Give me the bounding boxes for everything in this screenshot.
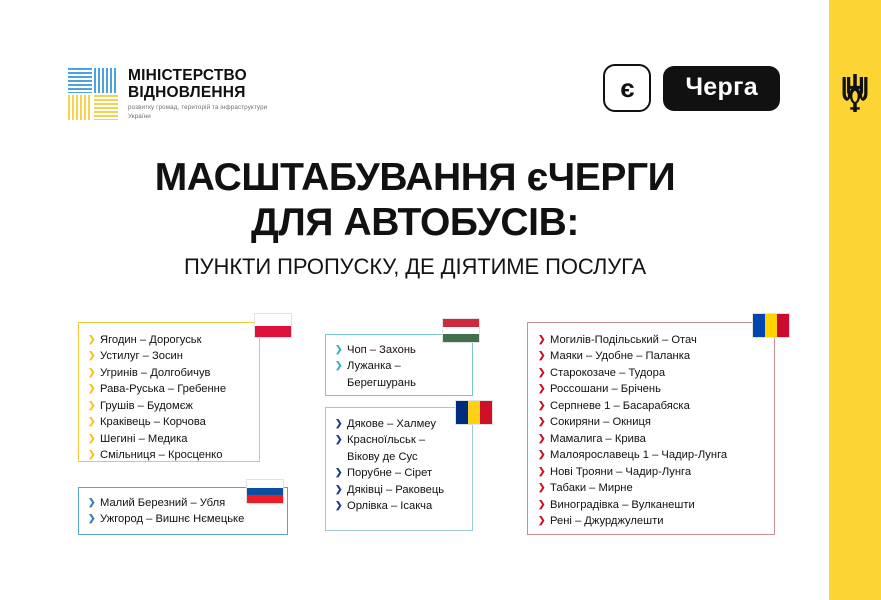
page-subtitle: ПУНКТИ ПРОПУСКУ, ДЕ ДІЯТИМЕ ПОСЛУГА: [0, 254, 830, 280]
ministry-wordmark: МІНІСТЕРСТВО ВІДНОВЛЕННЯ розвитку громад…: [128, 68, 278, 121]
checkpoint-list-romania: Дякове – ХалмеуКрасноїльськ – Вікову де …: [335, 416, 464, 515]
flag-hungary-icon: [442, 318, 480, 343]
page-title-line-1: МАСШТАБУВАННЯ єЧЕРГИ: [0, 155, 830, 200]
checkpoint-item: Порубне – Сірет: [335, 465, 464, 481]
checkpoint-box-romania: Дякове – ХалмеуКрасноїльськ – Вікову де …: [325, 407, 473, 531]
equeue-label: Черга: [663, 66, 780, 111]
ministry-name-line-2: ВІДНОВЛЕННЯ: [128, 85, 278, 102]
flag-band: [480, 401, 492, 424]
checkpoint-item: Виноградівка – Вулканешти: [538, 497, 766, 513]
checkpoint-item: Табаки – Мирне: [538, 480, 766, 496]
flag-romania-icon: [455, 400, 493, 425]
checkpoint-item: Нові Трояни – Чадир-Лунга: [538, 464, 766, 480]
checkpoint-item: Устилуг – Зосин: [88, 348, 251, 364]
flag-band: [443, 334, 479, 342]
flag-band: [255, 314, 291, 326]
checkpoint-item: Шегині – Медика: [88, 431, 251, 447]
checkpoint-item: Рені – Джурджулешти: [538, 513, 766, 529]
ministry-logo-mark-icon: [68, 68, 118, 120]
checkpoint-box-hungary: Чоп – ЗахоньЛужанка – Берегшурань: [325, 334, 473, 396]
ministry-name-line-1: МІНІСТЕРСТВО: [128, 68, 278, 85]
flag-slovakia-icon: [246, 479, 284, 504]
logo-quadrant-top-right: [94, 68, 118, 93]
page-title-line-2: ДЛЯ АВТОБУСІВ:: [0, 200, 830, 245]
equeue-mark-icon: є: [603, 64, 651, 112]
header: МІНІСТЕРСТВО ВІДНОВЛЕННЯ розвитку громад…: [68, 64, 780, 126]
checkpoint-item: Дяківці – Раковець: [335, 482, 464, 498]
ukraine-trident-icon: [840, 74, 870, 112]
checkpoint-item: Грушів – Будомєж: [88, 398, 251, 414]
checkpoint-item: Старокозаче – Тудора: [538, 365, 766, 381]
ministry-logo: МІНІСТЕРСТВО ВІДНОВЛЕННЯ розвитку громад…: [68, 68, 278, 121]
right-accent-band: [829, 0, 881, 600]
flag-band: [753, 314, 765, 337]
checkpoint-item: Маяки – Удобне – Паланка: [538, 348, 766, 364]
checkpoint-item: Чоп – Захонь: [335, 342, 464, 358]
checkpoint-item: Малоярославець 1 – Чадир-Лунга: [538, 447, 766, 463]
checkpoint-item: Серпневе 1 – Басарабяска: [538, 398, 766, 414]
title-area: МАСШТАБУВАННЯ єЧЕРГИ ДЛЯ АВТОБУСІВ: ПУНК…: [0, 155, 830, 280]
checkpoint-item: Могилів-Подільський – Отач: [538, 332, 766, 348]
logo-quadrant-bottom-right: [94, 95, 118, 120]
ministry-subtitle: розвитку громад, територій та інфраструк…: [128, 104, 278, 121]
checkpoint-item: Россошани – Брічень: [538, 381, 766, 397]
logo-quadrant-top-left: [68, 68, 92, 93]
checkpoint-list-poland: Ягодин – ДорогуськУстилуг – ЗосинУгринів…: [88, 332, 251, 464]
checkpoint-item: Сокиряни – Окниця: [538, 414, 766, 430]
flag-band: [247, 495, 283, 503]
flag-band: [443, 327, 479, 335]
flag-band: [456, 401, 468, 424]
checkpoint-item: Красноїльськ – Вікову де Сус: [335, 432, 464, 465]
flag-band: [765, 314, 777, 337]
checkpoint-item: Рава-Руська – Гребенне: [88, 381, 251, 397]
checkpoint-item: Мамалига – Крива: [538, 431, 766, 447]
checkpoint-item: Ужгород – Вишнє Нємецьке: [88, 511, 279, 527]
equeue-brand-badge: є Черга: [603, 64, 780, 112]
checkpoint-item: Лужанка – Берегшурань: [335, 358, 464, 391]
flag-band: [443, 319, 479, 327]
checkpoint-item: Угринів – Долгобичув: [88, 365, 251, 381]
flag-poland-icon: [254, 313, 292, 338]
checkpoint-list-moldova: Могилів-Подільський – ОтачМаяки – Удобне…: [538, 332, 766, 529]
checkpoint-box-poland: Ягодин – ДорогуськУстилуг – ЗосинУгринів…: [78, 322, 260, 462]
logo-quadrant-bottom-left: [68, 95, 92, 120]
checkpoint-item: Смільниця – Кросценко: [88, 447, 251, 463]
checkpoint-item: Орлівка – Ісакча: [335, 498, 464, 514]
flag-band: [468, 401, 480, 424]
checkpoint-item: Ягодин – Дорогуськ: [88, 332, 251, 348]
flag-moldova-icon: [752, 313, 790, 338]
checkpoint-box-moldova: Могилів-Подільський – ОтачМаяки – Удобне…: [527, 322, 775, 535]
checkpoint-item: Дякове – Халмеу: [335, 416, 464, 432]
flag-band: [777, 314, 789, 337]
flag-band: [247, 480, 283, 488]
checkpoint-item: Краківець – Корчова: [88, 414, 251, 430]
flag-band: [255, 326, 291, 338]
flag-band: [247, 488, 283, 496]
checkpoint-list-hungary: Чоп – ЗахоньЛужанка – Берегшурань: [335, 342, 464, 391]
